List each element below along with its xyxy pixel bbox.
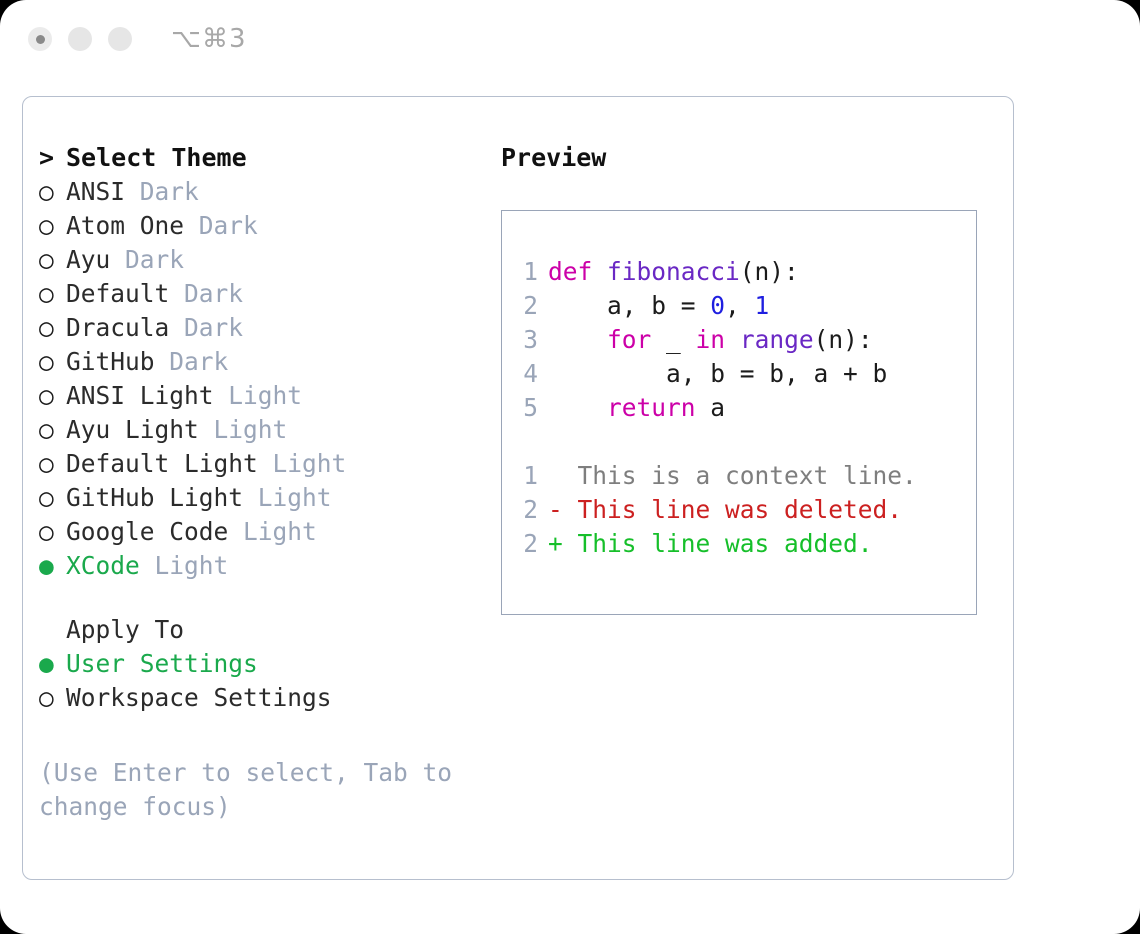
radio-unselected-icon[interactable]: ○ bbox=[39, 175, 66, 209]
label-spacer bbox=[125, 175, 140, 209]
label-spacer bbox=[228, 515, 243, 549]
window-dot-3-icon[interactable] bbox=[108, 27, 132, 51]
code-line-text: return a bbox=[548, 391, 725, 425]
code-line-number: 1 bbox=[502, 255, 548, 289]
code-token-kw: for bbox=[607, 325, 651, 354]
theme-variant-label: Light bbox=[228, 379, 302, 413]
radio-unselected-icon[interactable]: ○ bbox=[39, 345, 66, 379]
label-spacer bbox=[258, 447, 273, 481]
radio-selected-icon[interactable]: ● bbox=[39, 647, 66, 681]
label-spacer bbox=[169, 277, 184, 311]
diff-line-del: 2- This line was deleted. bbox=[502, 493, 976, 527]
theme-variant-label: Dark bbox=[140, 175, 199, 209]
theme-option-label: Atom One bbox=[66, 209, 184, 243]
theme-option-label: XCode bbox=[66, 549, 140, 583]
theme-option-label: Default Light bbox=[66, 447, 258, 481]
code-line-number: 5 bbox=[502, 391, 548, 425]
diff-line-add: 2+ This line was added. bbox=[502, 527, 976, 561]
code-token-pl bbox=[548, 393, 607, 422]
theme-variant-label: Dark bbox=[199, 209, 258, 243]
theme-option-label: Ayu Light bbox=[66, 413, 199, 447]
code-token-fn: fibonacci bbox=[607, 257, 740, 286]
diff-line-text: - This line was deleted. bbox=[548, 493, 902, 527]
apply-to-option-workspace-settings[interactable]: ○Workspace Settings bbox=[39, 681, 509, 715]
label-spacer bbox=[184, 209, 199, 243]
terminal-window: ⌥⌘3 > Select Theme ○ANSI Dark○Atom One D… bbox=[0, 0, 1140, 934]
radio-unselected-icon[interactable]: ○ bbox=[39, 413, 66, 447]
code-line-number: 2 bbox=[502, 289, 548, 323]
theme-option-github[interactable]: ○GitHub Dark bbox=[39, 345, 509, 379]
apply-to-option-label: User Settings bbox=[66, 647, 258, 681]
apply-to-spacer-icon bbox=[39, 613, 66, 647]
select-theme-title: Select Theme bbox=[66, 141, 247, 175]
theme-variant-label: Dark bbox=[184, 277, 243, 311]
theme-option-label: GitHub Light bbox=[66, 481, 243, 515]
code-token-kw: in bbox=[696, 325, 726, 354]
theme-option-google-code[interactable]: ○Google Code Light bbox=[39, 515, 509, 549]
theme-option-default[interactable]: ○Default Dark bbox=[39, 277, 509, 311]
label-spacer bbox=[155, 345, 170, 379]
theme-variant-label: Light bbox=[273, 447, 347, 481]
theme-option-ayu-light[interactable]: ○Ayu Light Light bbox=[39, 413, 509, 447]
theme-variant-label: Light bbox=[155, 549, 229, 583]
apply-to-title: Apply To bbox=[66, 613, 184, 647]
code-token-kw: def bbox=[548, 257, 592, 286]
code-token-pl: a, b = b, a + b bbox=[548, 359, 887, 388]
theme-option-label: ANSI Light bbox=[66, 379, 214, 413]
code-token-pl: , bbox=[725, 291, 755, 320]
code-line: 2 a, b = 0, 1 bbox=[502, 289, 976, 323]
label-spacer bbox=[169, 311, 184, 345]
code-token-num: 1 bbox=[755, 291, 770, 320]
apply-to-option-list: ●User Settings○Workspace Settings bbox=[39, 647, 509, 715]
diff-line-text: This is a context line. bbox=[548, 459, 917, 493]
code-line-text: a, b = b, a + b bbox=[548, 357, 887, 391]
radio-unselected-icon[interactable]: ○ bbox=[39, 515, 66, 549]
theme-option-github-light[interactable]: ○GitHub Light Light bbox=[39, 481, 509, 515]
record-dot-inner bbox=[36, 35, 45, 44]
code-token-fn: range bbox=[740, 325, 814, 354]
preview-column: Preview 1def fibonacci(n):2 a, b = 0, 13… bbox=[501, 141, 993, 615]
theme-variant-label: Dark bbox=[169, 345, 228, 379]
theme-option-ansi[interactable]: ○ANSI Dark bbox=[39, 175, 509, 209]
label-spacer bbox=[110, 243, 125, 277]
code-line-text: def fibonacci(n): bbox=[548, 255, 799, 289]
code-sample: 1def fibonacci(n):2 a, b = 0, 13 for _ i… bbox=[502, 255, 976, 425]
theme-option-list: ○ANSI Dark○Atom One Dark○Ayu Dark○Defaul… bbox=[39, 175, 509, 583]
theme-option-default-light[interactable]: ○Default Light Light bbox=[39, 447, 509, 481]
code-token-pl: a bbox=[696, 393, 726, 422]
diff-line-ctx: 1 This is a context line. bbox=[502, 459, 976, 493]
code-token-pl bbox=[592, 257, 607, 286]
code-line-number: 3 bbox=[502, 323, 548, 357]
radio-unselected-icon[interactable]: ○ bbox=[39, 481, 66, 515]
code-token-kw: return bbox=[607, 393, 696, 422]
code-line: 3 for _ in range(n): bbox=[502, 323, 976, 357]
code-token-pl: (n): bbox=[740, 257, 799, 286]
diff-line-number: 1 bbox=[502, 459, 548, 493]
label-spacer bbox=[243, 481, 258, 515]
diff-line-number: 2 bbox=[502, 493, 548, 527]
theme-variant-label: Light bbox=[214, 413, 288, 447]
preview-title: Preview bbox=[501, 141, 993, 175]
theme-option-label: Ayu bbox=[66, 243, 110, 277]
record-dot-icon[interactable] bbox=[28, 27, 52, 51]
code-token-num: 0 bbox=[710, 291, 725, 320]
apply-to-option-user-settings[interactable]: ●User Settings bbox=[39, 647, 509, 681]
radio-selected-icon[interactable]: ● bbox=[39, 549, 66, 583]
theme-option-label: Dracula bbox=[66, 311, 169, 345]
theme-option-label: ANSI bbox=[66, 175, 125, 209]
code-token-pl: a, b = bbox=[548, 291, 710, 320]
theme-selector-panel: > Select Theme ○ANSI Dark○Atom One Dark○… bbox=[22, 96, 1014, 880]
radio-unselected-icon[interactable]: ○ bbox=[39, 681, 66, 715]
code-line: 1def fibonacci(n): bbox=[502, 255, 976, 289]
theme-option-atom-one[interactable]: ○Atom One Dark bbox=[39, 209, 509, 243]
theme-list-column: > Select Theme ○ANSI Dark○Atom One Dark○… bbox=[39, 141, 509, 715]
code-line-number: 4 bbox=[502, 357, 548, 391]
theme-variant-label: Light bbox=[243, 515, 317, 549]
code-line: 4 a, b = b, a + b bbox=[502, 357, 976, 391]
preview-gap bbox=[502, 425, 976, 459]
theme-option-label: Default bbox=[66, 277, 169, 311]
code-token-pl: (n): bbox=[814, 325, 873, 354]
theme-option-dracula[interactable]: ○Dracula Dark bbox=[39, 311, 509, 345]
theme-option-ayu[interactable]: ○Ayu Dark bbox=[39, 243, 509, 277]
code-token-pl bbox=[548, 325, 607, 354]
radio-unselected-icon[interactable]: ○ bbox=[39, 311, 66, 345]
keyboard-shortcut-label: ⌥⌘3 bbox=[171, 24, 247, 54]
theme-option-label: GitHub bbox=[66, 345, 155, 379]
radio-unselected-icon[interactable]: ○ bbox=[39, 209, 66, 243]
code-token-pl bbox=[725, 325, 740, 354]
theme-option-ansi-light[interactable]: ○ANSI Light Light bbox=[39, 379, 509, 413]
diff-line-number: 2 bbox=[502, 527, 548, 561]
radio-unselected-icon[interactable]: ○ bbox=[39, 277, 66, 311]
radio-unselected-icon[interactable]: ○ bbox=[39, 379, 66, 413]
apply-to-option-label: Workspace Settings bbox=[66, 681, 332, 715]
theme-option-xcode[interactable]: ●XCode Light bbox=[39, 549, 509, 583]
code-line-text: a, b = 0, 1 bbox=[548, 289, 769, 323]
label-spacer bbox=[199, 413, 214, 447]
theme-option-label: Google Code bbox=[66, 515, 228, 549]
code-line-text: for _ in range(n): bbox=[548, 323, 873, 357]
theme-variant-label: Light bbox=[258, 481, 332, 515]
window-dot-2-icon[interactable] bbox=[68, 27, 92, 51]
theme-variant-label: Dark bbox=[125, 243, 184, 277]
radio-unselected-icon[interactable]: ○ bbox=[39, 447, 66, 481]
prompt-caret-icon: > bbox=[39, 141, 66, 175]
diff-sample: 1 This is a context line.2- This line wa… bbox=[502, 459, 976, 561]
apply-to-header: Apply To bbox=[39, 613, 509, 647]
code-token-pl: _ bbox=[651, 325, 695, 354]
preview-box: 1def fibonacci(n):2 a, b = 0, 13 for _ i… bbox=[501, 210, 977, 615]
keyboard-hint-text: (Use Enter to select, Tab to change focu… bbox=[39, 756, 459, 824]
window-titlebar: ⌥⌘3 bbox=[0, 0, 1140, 78]
select-theme-header: > Select Theme bbox=[39, 141, 509, 175]
code-line: 5 return a bbox=[502, 391, 976, 425]
theme-variant-label: Dark bbox=[184, 311, 243, 345]
diff-line-text: + This line was added. bbox=[548, 527, 873, 561]
label-spacer bbox=[140, 549, 155, 583]
label-spacer bbox=[214, 379, 229, 413]
radio-unselected-icon[interactable]: ○ bbox=[39, 243, 66, 277]
